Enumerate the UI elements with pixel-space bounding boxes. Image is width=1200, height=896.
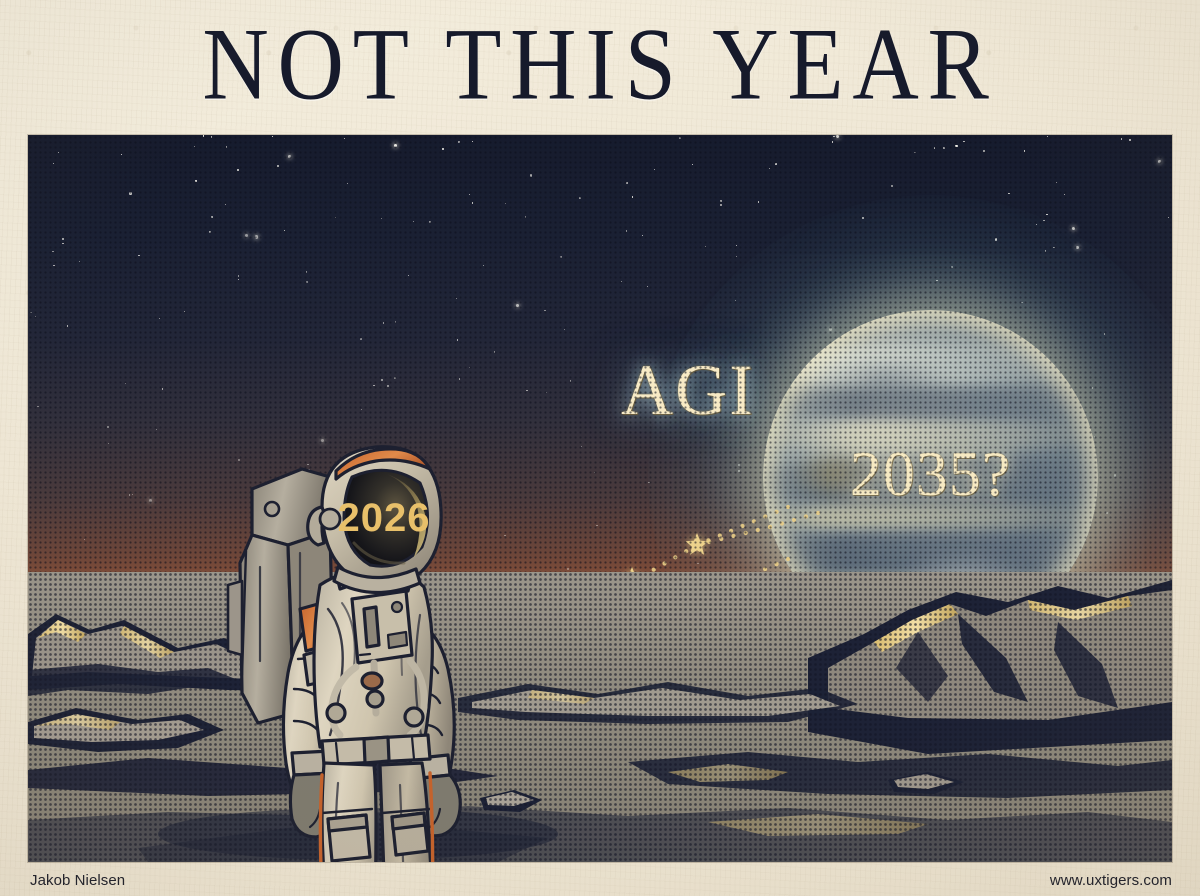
star <box>472 202 473 203</box>
star <box>237 169 239 171</box>
star <box>238 279 239 280</box>
star <box>306 281 308 283</box>
star <box>209 231 210 232</box>
star <box>395 321 396 322</box>
star <box>692 164 693 165</box>
website-credit[interactable]: www.uxtigers.com <box>1050 872 1172 889</box>
star <box>52 251 53 252</box>
star <box>156 429 157 430</box>
star <box>720 204 721 205</box>
star <box>107 426 109 428</box>
star <box>53 265 54 266</box>
star <box>836 135 839 138</box>
star <box>53 163 54 164</box>
star <box>1158 160 1161 163</box>
star <box>459 378 460 379</box>
visor-year-label: 2026 <box>338 496 431 540</box>
page-title: NOTTHISYEAR <box>0 12 1200 115</box>
planet-year-label: 2035? <box>763 442 1098 506</box>
star <box>108 443 109 444</box>
illustration-panel: 2035? AGI <box>28 135 1172 862</box>
astronaut: 2026 <box>224 423 514 862</box>
star <box>203 135 204 136</box>
star <box>429 221 430 222</box>
star <box>758 201 759 202</box>
star <box>226 146 227 147</box>
star <box>955 145 957 147</box>
star <box>526 390 527 391</box>
star <box>458 141 459 142</box>
star <box>530 174 532 176</box>
star <box>456 298 457 299</box>
star <box>516 304 519 307</box>
star <box>579 197 580 198</box>
star <box>525 216 526 217</box>
star <box>387 385 388 386</box>
terrain-shapes <box>28 572 1172 862</box>
star <box>720 200 722 202</box>
star <box>37 406 38 407</box>
agi-label: AGI <box>621 354 755 426</box>
star <box>347 183 348 184</box>
star <box>373 385 374 386</box>
star <box>567 568 568 569</box>
star <box>626 230 627 231</box>
star <box>381 379 382 380</box>
lunar-surface <box>28 572 1172 862</box>
title-word-3: YEAR <box>712 7 997 121</box>
astronaut-illustration: 2026 <box>224 423 514 862</box>
star <box>344 138 345 139</box>
title-word-1: NOT <box>202 7 417 121</box>
star <box>67 325 68 326</box>
star <box>129 494 130 495</box>
star <box>483 265 484 266</box>
star <box>934 147 935 148</box>
star <box>1168 217 1169 218</box>
star <box>62 243 63 244</box>
title-word-2: THIS <box>445 7 684 121</box>
star <box>570 380 571 381</box>
star <box>238 275 239 276</box>
star <box>195 180 196 181</box>
star <box>560 256 562 258</box>
poster: NOTTHISYEAR 2035? AGI <box>0 0 1200 896</box>
star <box>129 192 131 194</box>
star <box>138 255 139 256</box>
author-credit: Jakob Nielsen <box>30 872 125 889</box>
star <box>1072 227 1075 230</box>
